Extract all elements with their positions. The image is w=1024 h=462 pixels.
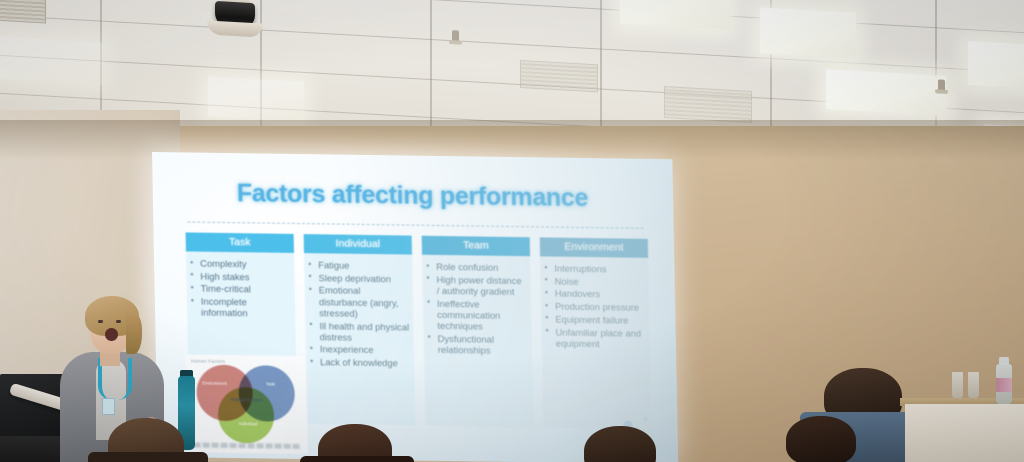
list-item: Equipment failure [544, 313, 645, 326]
list-item: Fatigue [307, 259, 408, 272]
list-item: Handovers [544, 288, 645, 301]
column-header-task: Task [186, 232, 294, 253]
presenter-eye [116, 320, 121, 323]
presenter-eye [98, 320, 103, 323]
list-item: Ill health and physical distress [308, 320, 409, 344]
ceiling-light-panel [208, 77, 304, 122]
venn-caption [194, 442, 302, 449]
venn-center-label: Human Factors [228, 397, 266, 403]
list-item: High power distance / authority gradient [425, 273, 526, 297]
decorative-bubble-icon [643, 417, 647, 421]
list-item: Lack of knowledge [309, 356, 410, 369]
list-item: Inexperience [309, 344, 410, 357]
venn-diagram: Environment Task Individual Human Factor… [194, 364, 300, 441]
air-vent [520, 60, 598, 92]
venn-label-environment: Environment [200, 381, 228, 387]
projection-screen: Factors affecting performance Task Compl… [152, 152, 678, 462]
drinking-glass [968, 372, 979, 398]
presenter-badge [102, 398, 115, 415]
title-divider [187, 221, 643, 228]
audience-head [786, 416, 856, 462]
venn-corner-label: Human Factors [191, 358, 225, 363]
bottle-label [996, 378, 1012, 392]
column-header-individual: Individual [304, 234, 412, 255]
list-item: Incomplete information [190, 296, 291, 320]
ceiling-light-panel [968, 41, 1024, 90]
column-header-team: Team [422, 236, 530, 257]
audience-shoulders [88, 452, 208, 462]
sprinkler-icon [452, 30, 459, 42]
venn-diagram-card: Human Factors Environment Task Individua… [186, 354, 308, 454]
list-item: Noise [543, 275, 644, 288]
drinking-glass [952, 372, 963, 398]
presenter-mouth [105, 328, 118, 341]
column-header-environment: Environment [540, 237, 648, 258]
list-item: Ineffective communication techniques [426, 297, 528, 332]
air-vent [0, 0, 46, 23]
list-item: High stakes [189, 270, 290, 283]
presenter-hair-side [126, 314, 142, 354]
list-item: Dysfunctional relationships [427, 332, 528, 356]
photo-scene: Factors affecting performance Task Compl… [0, 0, 1024, 462]
list-item: Role confusion [425, 261, 526, 274]
venn-label-individual: Individual [231, 421, 265, 427]
column-environment: Environment Interruptions Noise Handover… [540, 237, 652, 428]
list-item: Sleep deprivation [307, 272, 408, 285]
column-body-environment: Interruptions Noise Handovers Production… [540, 256, 651, 428]
dome-camera-rim [207, 21, 263, 38]
slide-content: Factors affecting performance Task Compl… [152, 152, 678, 462]
column-body-individual: Fatigue Sleep deprivation Emotional dist… [304, 253, 415, 425]
side-cabinet [905, 404, 1024, 462]
list-item: Production pressure [544, 301, 645, 314]
air-vent [664, 86, 752, 123]
list-item: Complexity [189, 257, 290, 270]
column-body-team: Role confusion High power distance / aut… [422, 255, 533, 427]
slide-title: Factors affecting performance [237, 179, 589, 213]
list-item: Time-critical [190, 283, 291, 296]
sprinkler-icon [938, 79, 945, 91]
column-individual: Individual Fatigue Sleep deprivation Emo… [304, 234, 416, 425]
column-team: Team Role confusion High power distance … [422, 236, 534, 427]
list-item: Emotional disturbance (angry, stressed) [308, 285, 410, 320]
list-item: Interruptions [543, 262, 644, 275]
ceiling-light-panel [760, 7, 856, 58]
ceiling-light-panel [826, 69, 946, 116]
ceiling-light-panel [620, 0, 730, 30]
audience-shoulders [300, 456, 414, 462]
list-item: Unfamiliar place and equipment [544, 326, 645, 350]
venn-label-task: Task [256, 381, 284, 387]
venn-circle-individual [218, 387, 275, 444]
ceiling-light-panel [0, 36, 102, 84]
